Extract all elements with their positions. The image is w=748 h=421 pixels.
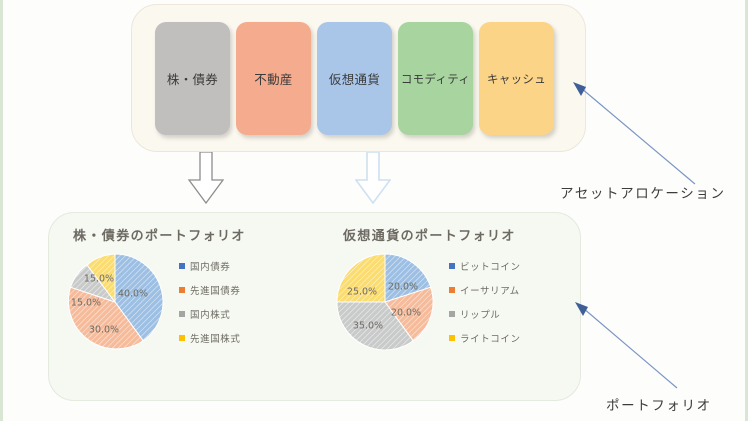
legend-item[interactable]: 国内株式 xyxy=(179,302,241,326)
legend-label: 先進国債券 xyxy=(190,283,241,297)
asset-card-label: 不動産 xyxy=(254,69,292,88)
legend-item[interactable]: イーサリアム xyxy=(449,278,521,302)
legend-swatch-icon xyxy=(179,335,185,341)
asset-card-commodity[interactable]: コモディティ xyxy=(398,22,473,135)
legend-label: ビットコイン xyxy=(460,259,521,273)
asset-card-cash[interactable]: キャッシュ xyxy=(479,22,554,135)
down-arrow-stocks-bonds xyxy=(188,152,224,204)
legend-item[interactable]: 先進国株式 xyxy=(179,326,241,350)
pie-slice-label: 15.0% xyxy=(71,298,101,309)
legend-crypto: ビットコイン イーサリアム リップル ライトコイン xyxy=(449,254,521,350)
callout-arrow-asset-allocation xyxy=(573,80,703,190)
legend-swatch-icon xyxy=(449,287,455,293)
legend-label: 国内債券 xyxy=(190,259,230,273)
legend-swatch-icon xyxy=(179,311,185,317)
legend-label: リップル xyxy=(460,307,500,321)
pie-slice-label: 30.0% xyxy=(89,325,119,336)
legend-item[interactable]: 国内債券 xyxy=(179,254,241,278)
portfolio-panel: 株・債券のポートフォリオ xyxy=(48,212,581,401)
asset-card-crypto[interactable]: 仮想通貨 xyxy=(317,22,392,135)
legend-label: 先進国株式 xyxy=(190,331,241,345)
legend-label: 国内株式 xyxy=(190,307,230,321)
chart-crypto-portfolio: 仮想通貨のポートフォリオ 20.0% 20.0% 35.0% xyxy=(333,225,581,354)
pie-chart-crypto: 20.0% 20.0% 35.0% 25.0% xyxy=(333,250,437,354)
legend-item[interactable]: ライトコイン xyxy=(449,326,521,350)
down-arrow-crypto xyxy=(355,152,391,204)
callout-arrow-portfolio xyxy=(575,300,685,395)
pie-slice-label: 40.0% xyxy=(118,289,148,300)
chart-title: 株・債券のポートフォリオ xyxy=(73,225,325,244)
asset-card-label: 仮想通貨 xyxy=(329,69,380,88)
legend-swatch-icon xyxy=(179,287,185,293)
chart-title: 仮想通貨のポートフォリオ xyxy=(343,225,581,244)
legend-item[interactable]: リップル xyxy=(449,302,521,326)
legend-label: イーサリアム xyxy=(460,283,520,297)
pie-slice-label: 20.0% xyxy=(391,308,421,319)
legend-swatch-icon xyxy=(179,263,185,269)
asset-card-row: 株・債券 不動産 仮想通貨 コモディティ キャッシュ xyxy=(155,22,554,135)
asset-card-real-estate[interactable]: 不動産 xyxy=(236,22,311,135)
asset-card-label: キャッシュ xyxy=(487,71,546,87)
slide-canvas: 株・債券 不動産 仮想通貨 コモディティ キャッシュ xyxy=(0,0,748,421)
pie-slice-label: 25.0% xyxy=(347,287,377,298)
pie-slice-label: 15.0% xyxy=(84,274,114,285)
asset-card-label: 株・債券 xyxy=(167,69,218,88)
callout-portfolio: ポートフォリオ xyxy=(606,394,712,414)
asset-card-label: コモディティ xyxy=(401,71,470,87)
pie-slice-label: 35.0% xyxy=(353,321,383,332)
chart-stocks-bonds-portfolio: 株・債券のポートフォリオ xyxy=(63,225,325,354)
legend-swatch-icon xyxy=(449,311,455,317)
pie-chart-stocks-bonds: 40.0% 30.0% 15.0% 15.0% xyxy=(63,250,167,354)
legend-swatch-icon xyxy=(449,263,455,269)
callout-asset-allocation: アセットアロケーション xyxy=(560,182,726,202)
legend-item[interactable]: ビットコイン xyxy=(449,254,521,278)
legend-label: ライトコイン xyxy=(460,331,521,345)
asset-allocation-panel: 株・債券 不動産 仮想通貨 コモディティ キャッシュ xyxy=(131,4,586,152)
legend-item[interactable]: 先進国債券 xyxy=(179,278,241,302)
legend-stocks-bonds: 国内債券 先進国債券 国内株式 先進国株式 xyxy=(179,254,241,350)
asset-card-stocks-bonds[interactable]: 株・債券 xyxy=(155,22,230,135)
legend-swatch-icon xyxy=(449,335,455,341)
pie-slice-label: 20.0% xyxy=(388,282,418,293)
